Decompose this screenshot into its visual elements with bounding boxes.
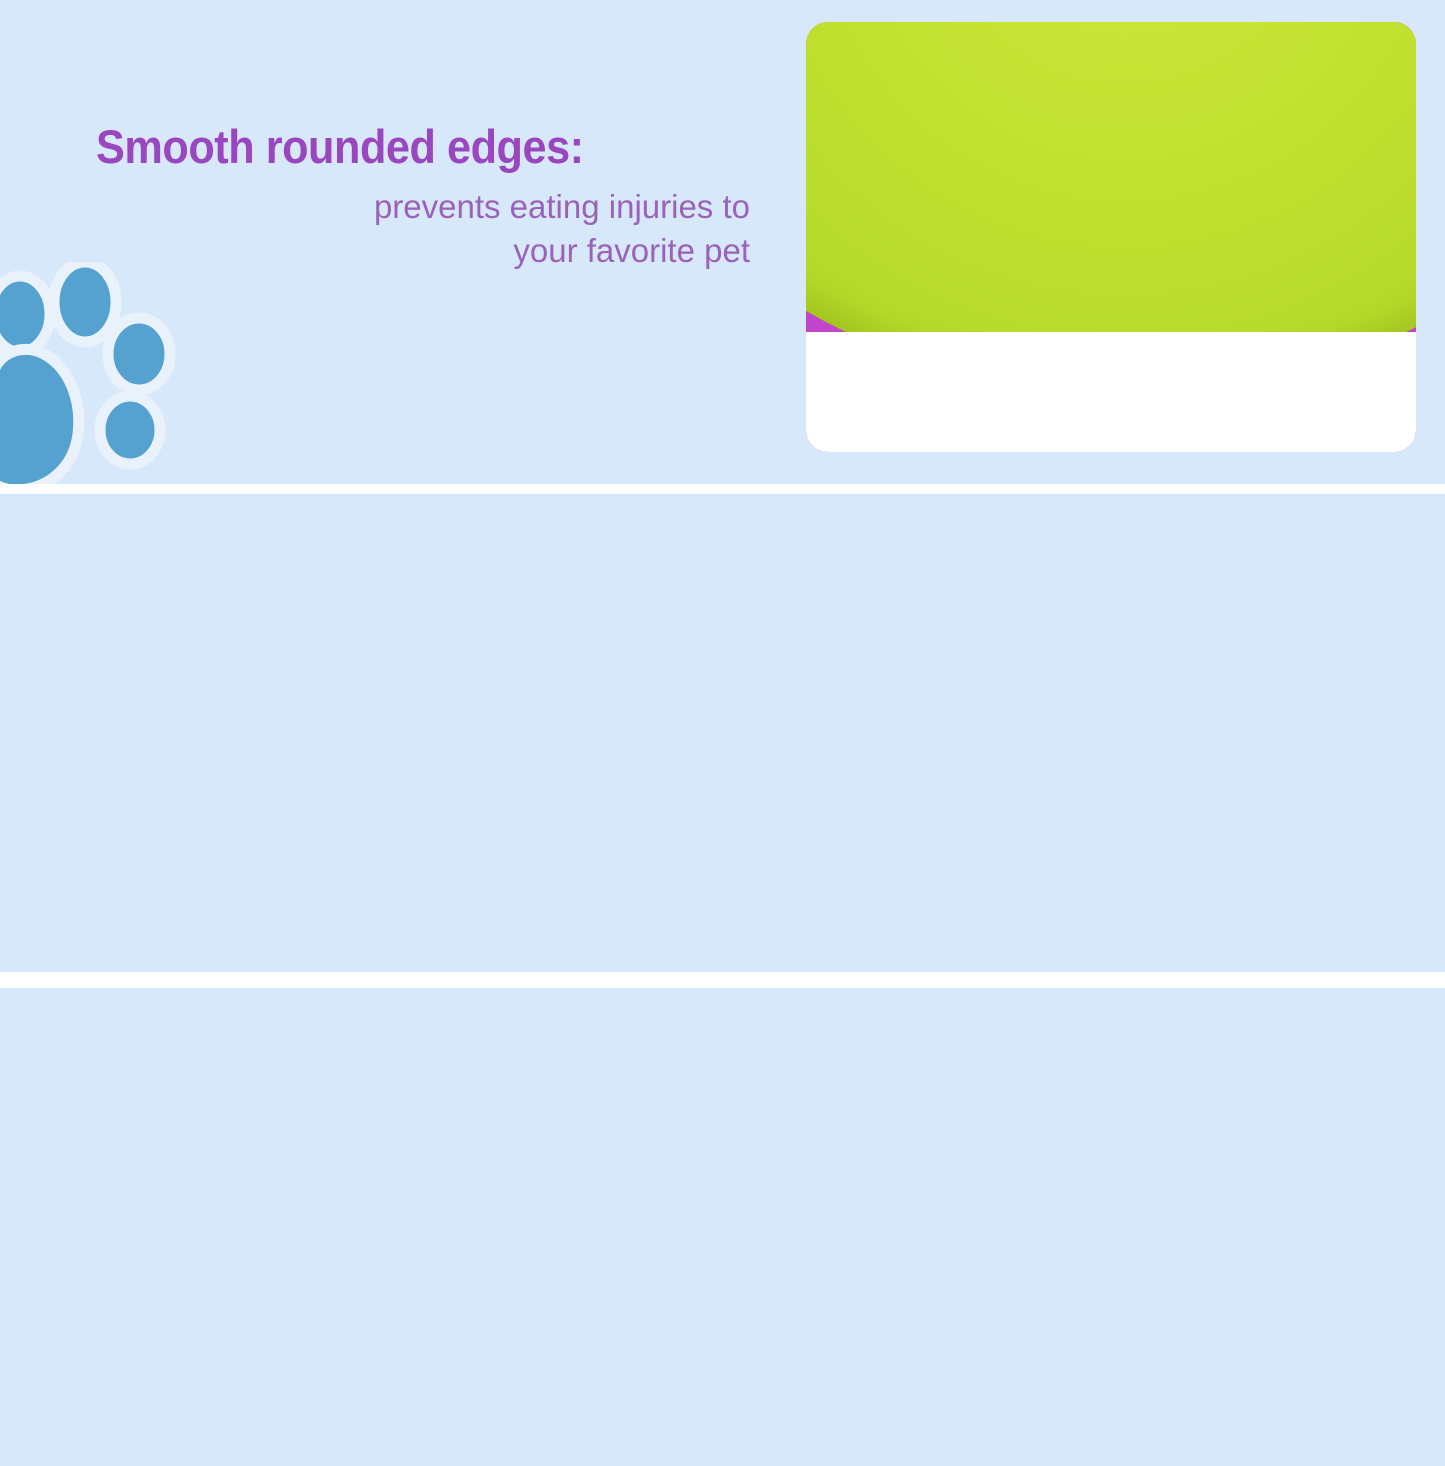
paw-print-icon	[0, 262, 192, 484]
feature-panel-detachable: Detachable assembly: Convenient for you …	[0, 988, 1445, 1466]
photo-backdrop	[806, 332, 1416, 452]
panel-1-text: Smooth rounded edges: prevents eating in…	[96, 122, 756, 273]
feature-panel-non-slip: Non-slip bottom design: rubberized non-s…	[0, 494, 1445, 972]
panel-1-body-line-1: prevents eating injuries to	[96, 185, 756, 229]
panel-1-body-line-2: your favorite pet	[96, 229, 756, 273]
panel-1-headline: Smooth rounded edges:	[96, 122, 703, 171]
stacked-bowl-rims-photo	[806, 22, 1416, 452]
infographic-page: Smooth rounded edges: prevents eating in…	[0, 0, 1445, 1466]
feature-panel-smooth-edges: Smooth rounded edges: prevents eating in…	[0, 0, 1445, 484]
